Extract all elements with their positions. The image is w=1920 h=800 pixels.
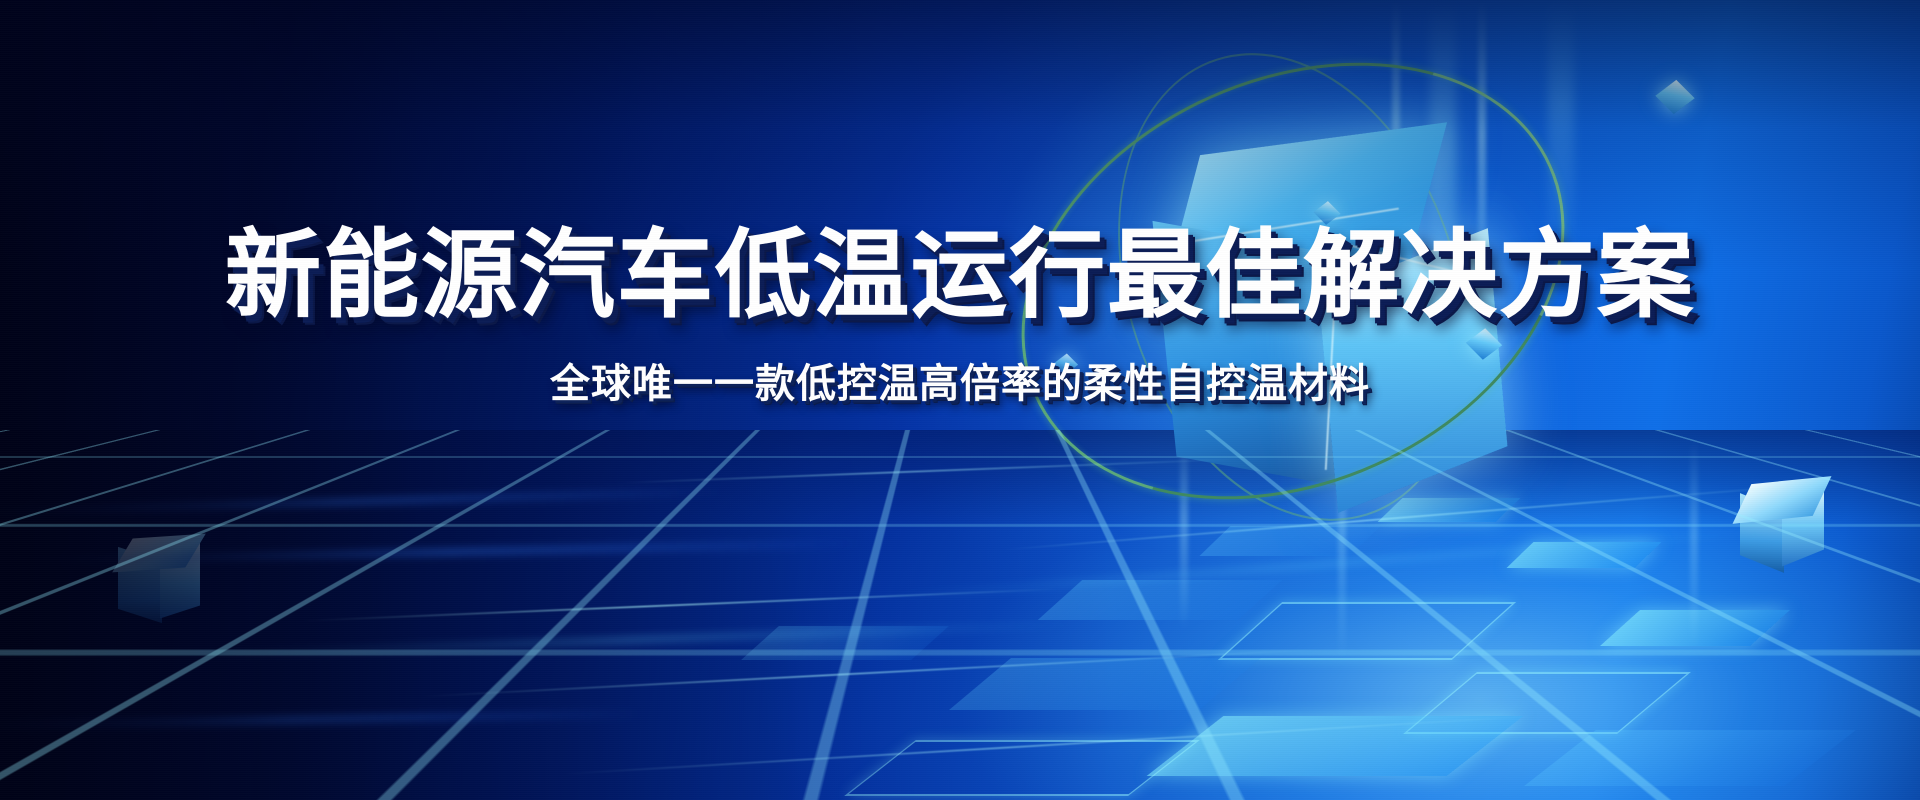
hero-banner: 新能源汽车低温运行最佳解决方案 全球唯一一款低控温高倍率的柔性自控温材料 — [0, 0, 1920, 800]
banner-subtitle: 全球唯一一款低控温高倍率的柔性自控温材料 — [0, 362, 1920, 406]
banner-title: 新能源汽车低温运行最佳解决方案 — [0, 228, 1920, 324]
